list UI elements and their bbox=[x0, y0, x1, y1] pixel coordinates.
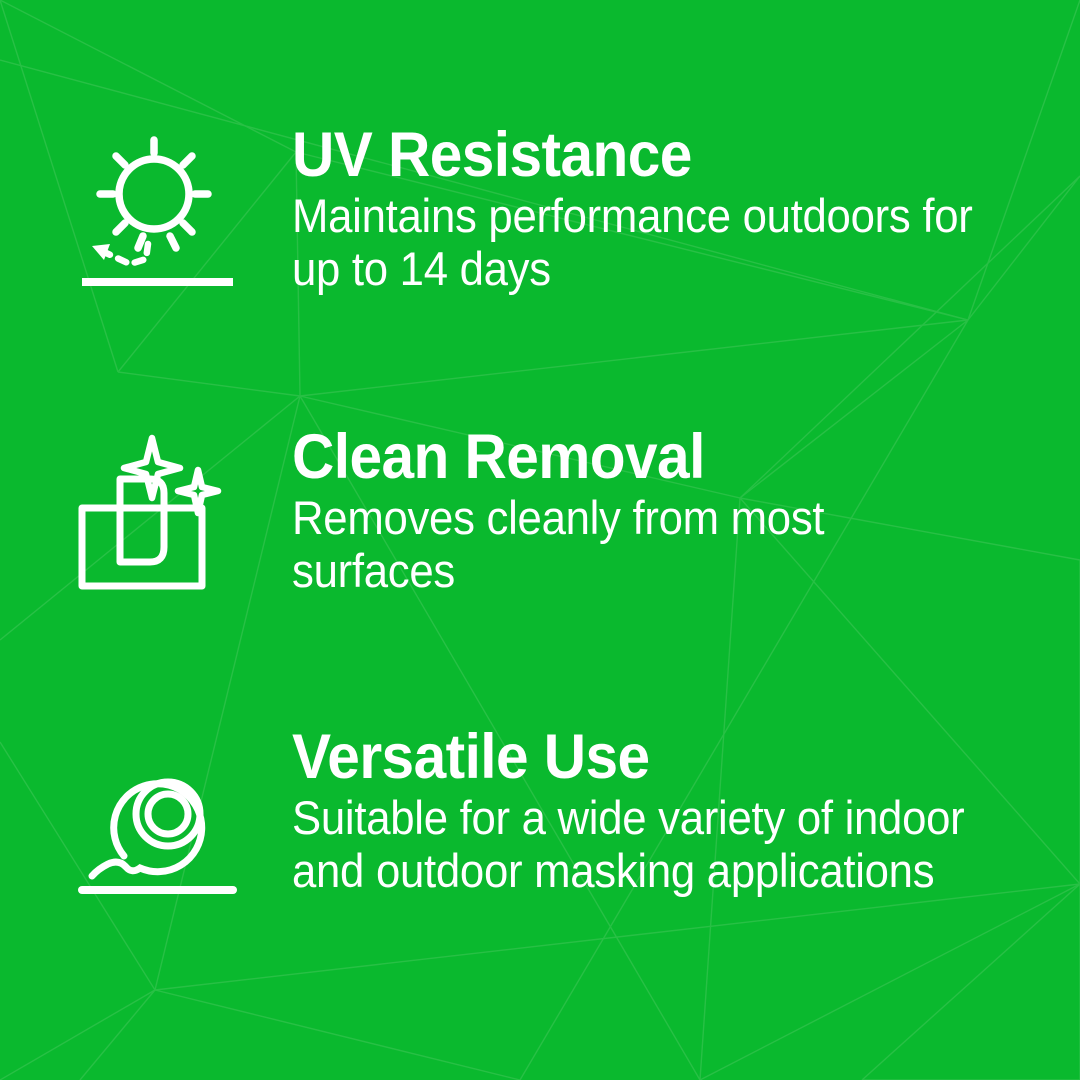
feature-text: Clean Removal Removes cleanly from most … bbox=[250, 426, 1040, 598]
feature-title: Versatile Use bbox=[292, 726, 988, 788]
peeling-tape-sparkle-icon bbox=[78, 434, 250, 606]
feature-row: Versatile Use Suitable for a wide variet… bbox=[0, 726, 1080, 906]
feature-row: UV Resistance Maintains performance outd… bbox=[0, 124, 1080, 304]
feature-text: UV Resistance Maintains performance outd… bbox=[250, 124, 1040, 296]
tape-roll-icon bbox=[78, 734, 250, 906]
feature-description: Suitable for a wide variety of indoor an… bbox=[292, 792, 988, 897]
feature-row: Clean Removal Removes cleanly from most … bbox=[0, 426, 1080, 606]
feature-list: UV Resistance Maintains performance outd… bbox=[0, 0, 1080, 1080]
feature-text: Versatile Use Suitable for a wide variet… bbox=[250, 726, 1040, 898]
feature-description: Removes cleanly from most surfaces bbox=[292, 492, 988, 597]
feature-description: Maintains performance outdoors for up to… bbox=[292, 190, 988, 295]
uv-sun-reflect-icon bbox=[78, 132, 250, 304]
feature-title: Clean Removal bbox=[292, 426, 988, 488]
feature-title: UV Resistance bbox=[292, 124, 988, 186]
